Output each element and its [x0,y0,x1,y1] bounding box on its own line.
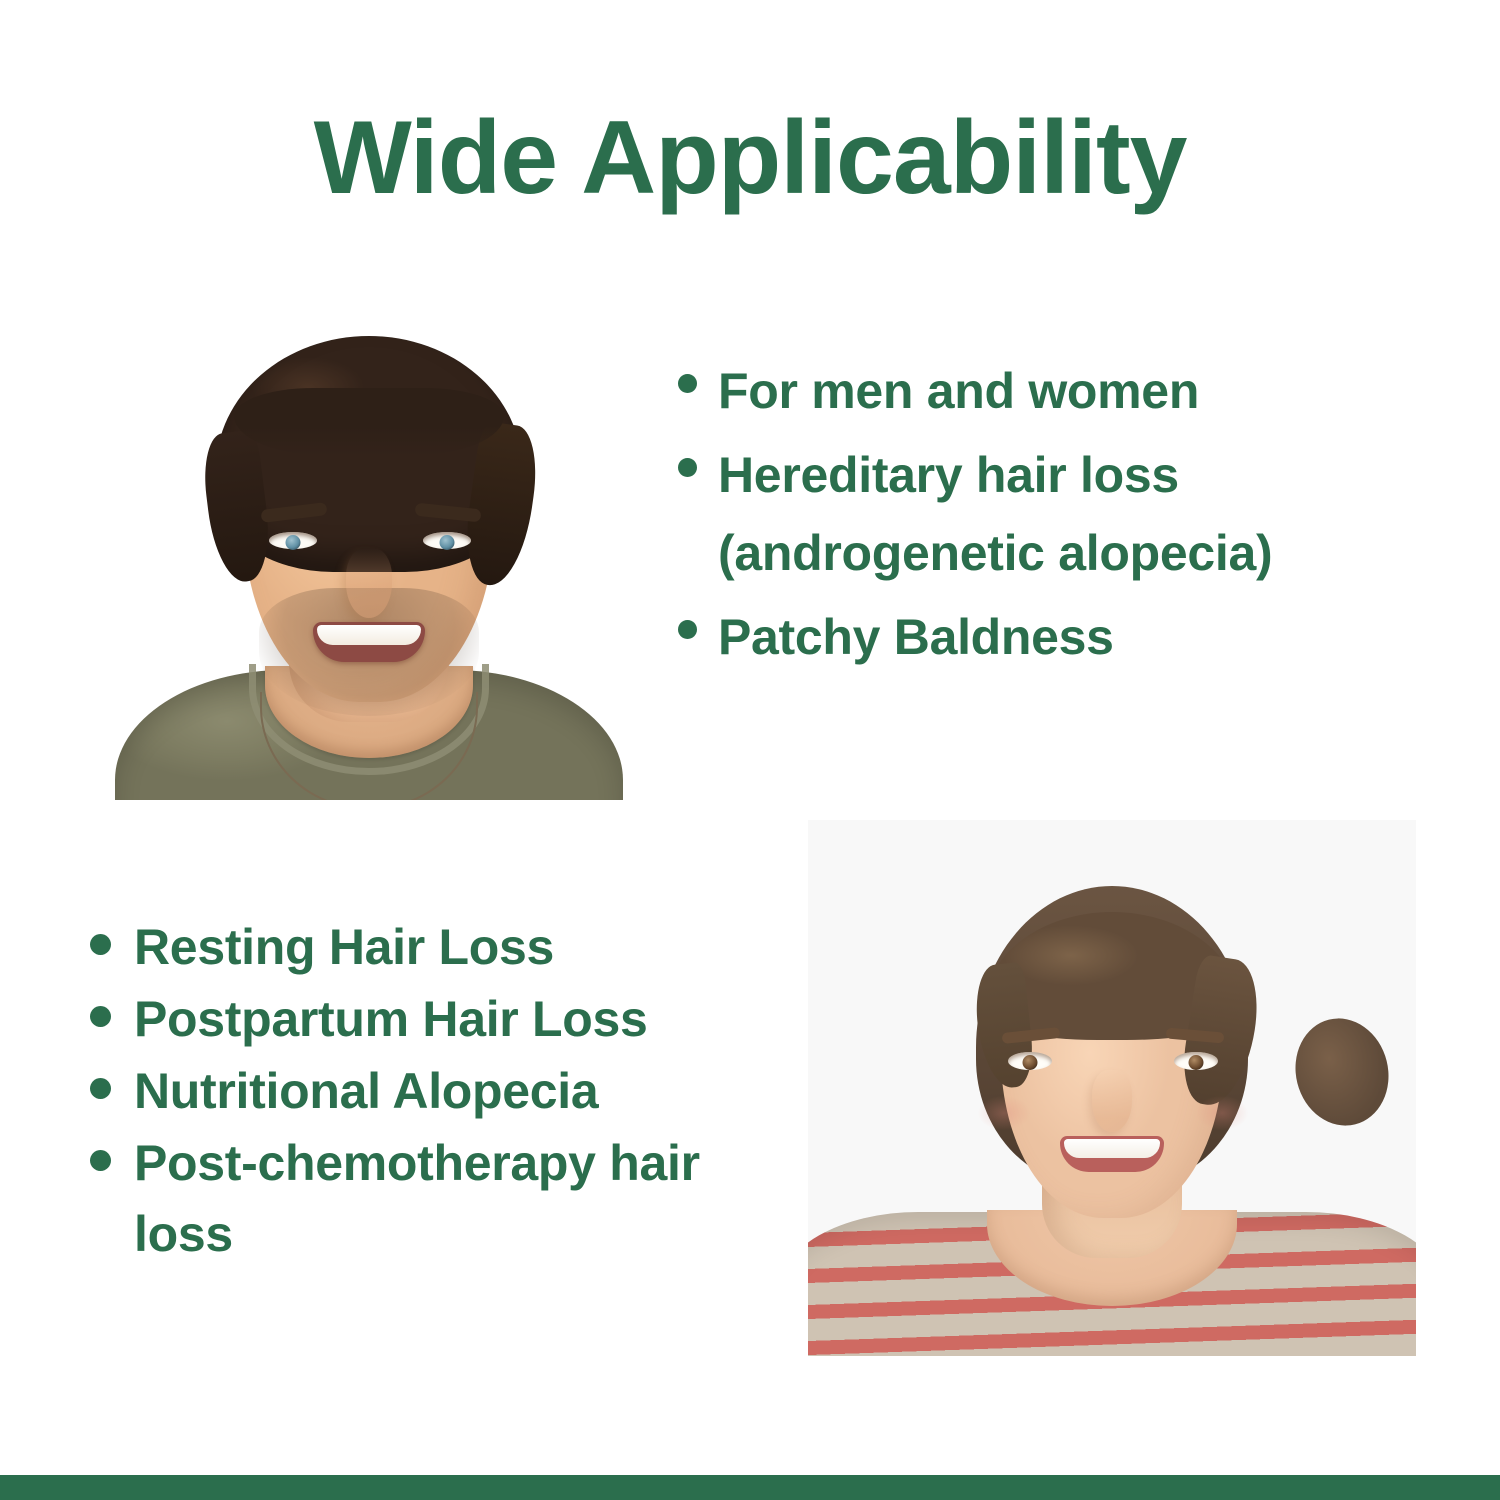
woman-eye-left [1008,1052,1052,1070]
woman-iris-right [1189,1055,1204,1070]
list-item: Hereditary hair loss (androgenetic alope… [678,436,1438,592]
bullet-dot-icon [678,458,697,477]
man-portrait-image [85,292,653,800]
man-eye-left [269,532,317,549]
woman-portrait-image [808,820,1416,1356]
bullet-dot-icon [678,620,697,639]
list-item: Patchy Baldness [678,598,1438,676]
footer-accent-bar [0,1475,1500,1500]
man-teeth [317,625,421,645]
list-item: Nutritional Alopecia [90,1056,790,1127]
list-item: For men and women [678,352,1438,430]
list-item-label: For men and women [718,352,1199,430]
man-mouth [313,622,425,662]
man-hair-fringe [234,388,504,456]
woman-portrait-illustration [808,820,1416,1356]
list-item-label: Postpartum Hair Loss [134,984,648,1055]
bullet-dot-icon [90,1078,111,1099]
infographic-page: Wide Applicability For men and women [0,0,1500,1500]
list-item-label: Resting Hair Loss [134,912,554,983]
woman-teeth [1064,1139,1160,1158]
man-nose [346,548,392,618]
page-title: Wide Applicability [0,104,1500,213]
woman-mouth [1060,1136,1164,1172]
woman-nose [1092,1070,1132,1132]
list-item: Post-chemotherapy hair loss [90,1128,790,1270]
list-item-label: Post-chemotherapy hair loss [134,1128,790,1270]
bottom-benefits-list: Resting Hair Loss Postpartum Hair Loss N… [90,912,790,1271]
list-item-label: Nutritional Alopecia [134,1056,598,1127]
man-iris-left [286,535,301,550]
woman-cheek-right [1196,1096,1248,1130]
bullet-dot-icon [90,934,111,955]
bullet-dot-icon [678,374,697,393]
list-item: Resting Hair Loss [90,912,790,983]
list-item: Postpartum Hair Loss [90,984,790,1055]
woman-iris-left [1023,1055,1038,1070]
bullet-dot-icon [90,1006,111,1027]
list-item-label: Hereditary hair loss (androgenetic alope… [718,436,1438,592]
list-item-label: Patchy Baldness [718,598,1114,676]
top-benefits-list: For men and women Hereditary hair loss (… [678,352,1438,682]
man-eye-right [423,532,471,549]
woman-eye-right [1174,1052,1218,1070]
bullet-dot-icon [90,1150,111,1171]
man-iris-right [440,535,455,550]
man-portrait-illustration [85,292,653,800]
woman-hair-bun [1284,1008,1399,1135]
woman-cheek-left [978,1096,1030,1130]
